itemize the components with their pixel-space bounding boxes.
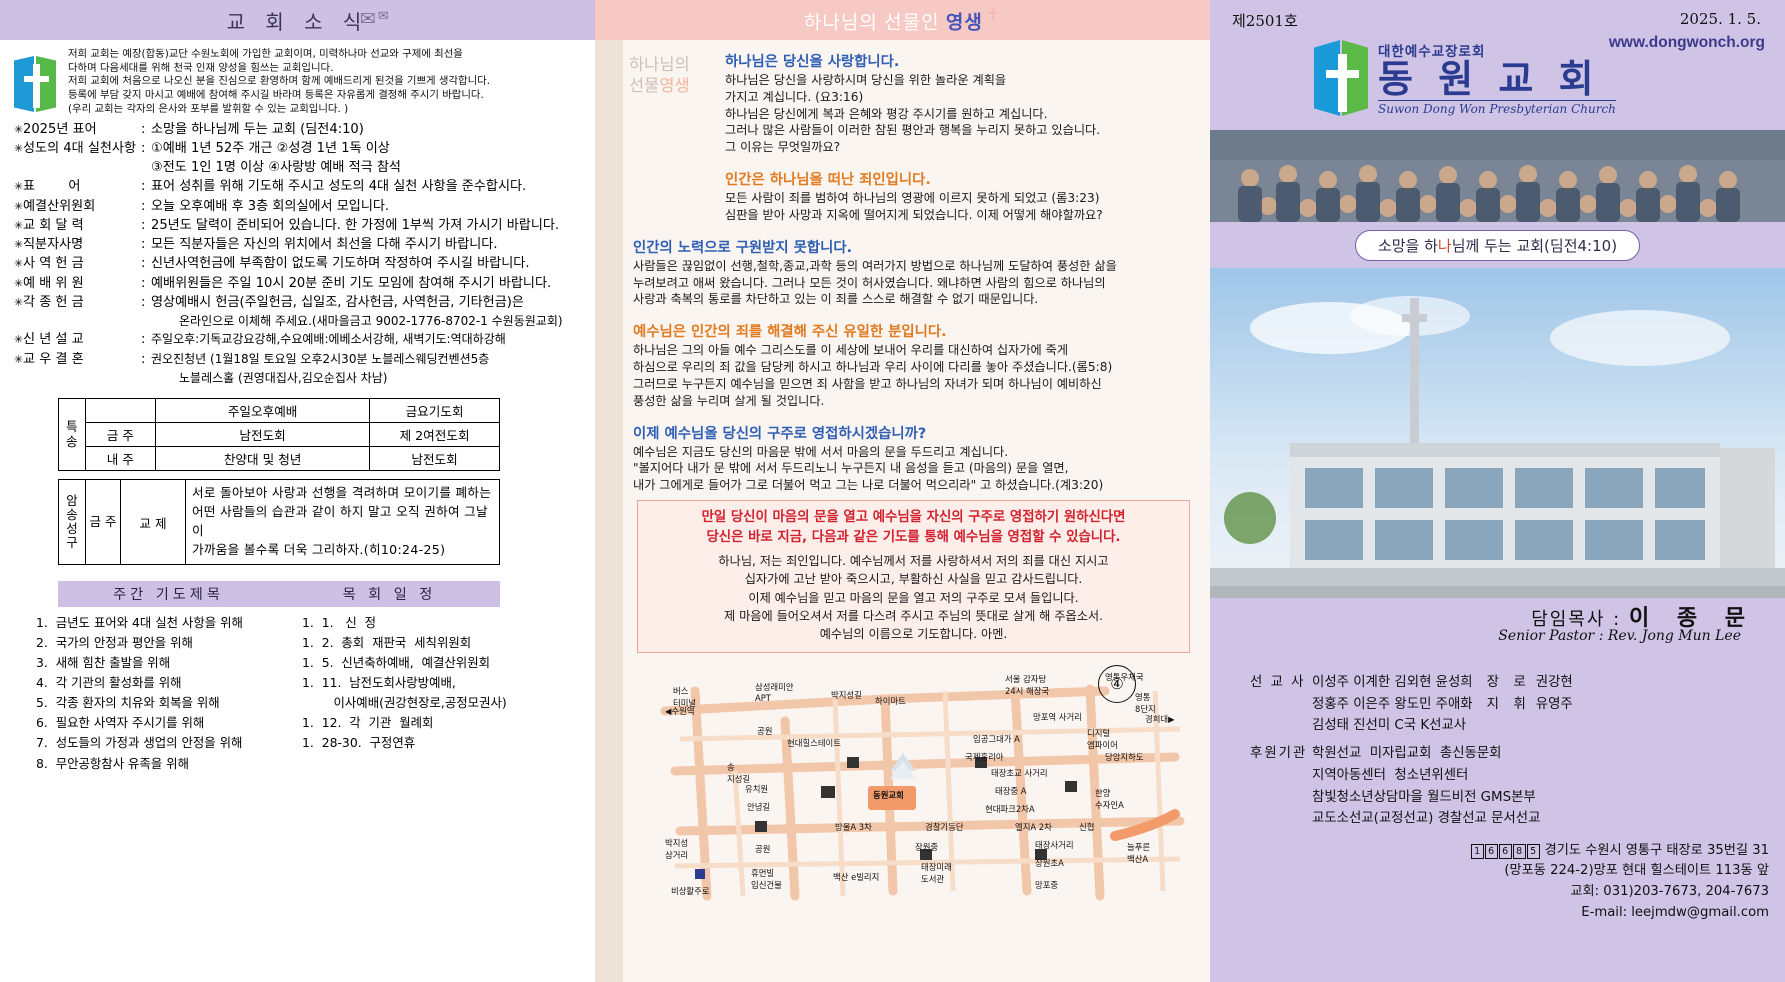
- slogan-bar: 소망을 하나님께 두는 교회(딤전4:10): [1210, 222, 1785, 268]
- slogan-suffix: 님께 두는 교회(딤전4:10): [1452, 237, 1617, 255]
- gospel-line: 내가 그에게로 들어가 그로 더불어 먹고 그는 나로 더불어 먹으리라" 고 …: [633, 478, 1103, 492]
- prayer-topics-header: 주간 기도제목: [58, 581, 279, 607]
- row-label-this-week: 금 주: [85, 423, 156, 447]
- list-item: 이사예배(권강현장로,공정모권사): [302, 693, 507, 713]
- cell-sunday-this-week: 남전도회: [156, 423, 370, 447]
- church-name: 동 원 교 회: [1378, 60, 1616, 100]
- map-label: 영통우체국: [1105, 671, 1144, 683]
- gospel-line: 풍성한 삶을 누리며 살게 될 것입니다.: [633, 394, 824, 408]
- announcement-item: ✳ 2025년 표어 : 소망을 하나님께 두는 교회 (딤전4:10): [14, 123, 585, 137]
- map-label: 비상활주로: [671, 885, 710, 897]
- map-label: 늘푸른백산A: [1127, 841, 1150, 865]
- announcement-item: ✳ 직분자사명 : 모든 직분자들은 자신의 위치에서 최선을 다해 주시기 바…: [14, 238, 585, 252]
- missionary-row: 선 교 사 이성주 이계한 김외현 윤성희 장 로 권강현: [1250, 672, 1573, 694]
- map-label: 현대파크2차A: [985, 803, 1035, 815]
- gospel-paragraph: 예수님은 지금도 당신의 마음문 밖에 서서 마음의 문을 두드리고 계십니다.…: [633, 444, 1198, 494]
- announcement-label: 신 년 설 교: [23, 333, 141, 347]
- missions-block: 선 교 사 이성주 이계한 김외현 윤성희 장 로 권강현 정홍주 이은주 왕도…: [1210, 672, 1573, 830]
- watermark-line: 선물영생: [629, 75, 725, 96]
- map-label: 서울 감자탕24시 해장국: [1005, 673, 1049, 697]
- bulletin-date: 2025. 1. 5.: [1680, 10, 1761, 28]
- map-label: 장원초A: [1035, 857, 1064, 869]
- table-cell-empty: [85, 399, 156, 423]
- memory-verse-side-label: 암 송 성 구: [59, 480, 86, 565]
- map-label: 망포중: [1035, 879, 1058, 891]
- map-label: 태장중 A: [995, 785, 1027, 797]
- colon: :: [141, 257, 151, 271]
- church-building-photo: [1210, 268, 1785, 598]
- watermark-eternal: 영생: [659, 76, 689, 95]
- gospel-section-2: 인간의 노력으로 구원받지 못합니다. 사람들은 끊임없이 선행,철학,종교,과…: [633, 236, 1198, 494]
- announcement-value: 영상예배시 헌금(주일헌금, 십일조, 감사헌금, 사역헌금, 기타헌금)은: [151, 296, 585, 310]
- map-label: 임공그대가 A: [973, 733, 1020, 745]
- list-item: 1. 금년도 표어와 4대 실천 사항을 위해: [36, 613, 286, 633]
- support-orgs: 지역아동센터 청소년위센터: [1312, 765, 1468, 787]
- announcement-value: 모든 직분자들은 자신의 위치에서 최선을 다해 주시기 바랍니다.: [151, 238, 585, 252]
- list-item: 1. 28-30. 구정연휴: [302, 733, 507, 753]
- gospel-line: 사랑과 축복의 통로를 차단하고 있는 이 죄를 스스로 해결할 수 없기 때문…: [633, 292, 1038, 306]
- gospel-line: 사람들은 끊임없이 선행,철학,종교,과학 등의 여러가지 방법으로 하나님께 …: [633, 259, 1117, 273]
- church-name-english: Suwon Dong Won Presbyterian Church: [1378, 100, 1616, 116]
- gospel-line: 그러나 많은 사람들이 이러한 참된 평안과 행복을 누리지 못하고 있습니다.: [725, 123, 1100, 137]
- gospel-line: 누려보려고 애써 왔습니다. 그러나 모든 것이 허사였습니다. 왜냐하면 사람…: [633, 276, 1106, 290]
- announcement-value: 권오진청년 (1월18일 토요일 오후2시30분 노블레스웨딩컨벤션5층: [151, 353, 585, 366]
- prayer-line: 십자가에 고난 받아 죽으시고, 부활하신 사실을 믿고 감사드립니다.: [745, 572, 1083, 586]
- announcement-item: ✳ 각 종 헌 금 : 영상예배시 헌금(주일헌금, 십일조, 감사헌금, 사역…: [14, 296, 585, 310]
- list-item: 1. 1. 신 정: [302, 613, 507, 633]
- colon: :: [141, 333, 151, 347]
- colon: :: [141, 200, 151, 214]
- support-row: 참빛청소년상담마을 월드비전 GMS본부: [1250, 787, 1573, 809]
- intro-line: 저희 교회는 예장(합동)교단 수원노회에 가입한 교회이며, 미력하나마 선교…: [68, 48, 490, 62]
- announcement-label: 직분자사명: [23, 238, 141, 252]
- gospel-title-highlight: 영생: [946, 12, 983, 33]
- memory-verse-line: 어떤 사람들의 습관과 같이 하지 말고 오직 권하여 그날이: [192, 503, 493, 541]
- spacer: [1250, 765, 1312, 787]
- gospel-line: 하나님은 그의 아들 예수 그리스도를 이 세상에 보내어 우리를 대신하여 십…: [633, 343, 1068, 357]
- map-label: ◀수원역: [665, 705, 695, 717]
- table-row: 암 송 성 구 금 주 교 제 서로 돌아보아 사랑과 선행을 격려하며 모이기…: [59, 480, 500, 565]
- colon: :: [141, 180, 151, 194]
- support-label: 후원기관: [1250, 743, 1312, 765]
- gospel-section-1: 하나님은 당신을 사랑합니다. 하나님은 당신을 사랑하시며 당신을 위한 놀라…: [725, 50, 1198, 224]
- bullet-icon: ✳: [14, 277, 23, 291]
- special-music-table: 특 송 주일오후예배 금요기도회 금 주 남전도회 제 2여전도회 내 주 찬양…: [58, 398, 500, 471]
- list-item: 4. 각 기관의 활성화를 위해: [36, 673, 286, 693]
- decision-heading-line: 만일 당신이 마음의 문을 열고 예수님을 자신의 구주로 영접하기 원하신다면: [702, 510, 1126, 525]
- announcement-value: ③전도 1인 1명 이상 ④사랑방 예배 적극 참석: [151, 161, 401, 175]
- missionary-row: 정홍주 이은주 왕도민 주애화 지 휘 유영주: [1250, 694, 1573, 716]
- announcement-value: ①예배 1년 52주 개근 ②성경 1년 1독 이상: [151, 142, 585, 156]
- gospel-line: "볼지어다 내가 문 밖에 서서 두드리노니 누구든지 내 음성을 듣고 (마음…: [633, 461, 1069, 475]
- announcement-value: 소망을 하나님께 두는 교회 (딤전4:10): [151, 123, 585, 137]
- gospel-paragraph: 사람들은 끊임없이 선행,철학,종교,과학 등의 여러가지 방법으로 하나님께 …: [633, 258, 1198, 308]
- address-street: 경기도 수원시 영통구 태장로 35번길 31: [1545, 843, 1769, 858]
- map-label: 하이마트: [875, 695, 906, 707]
- list-item: 1. 12. 각 기관 월례회: [302, 713, 507, 733]
- slogan-prefix: 소망을 하: [1378, 237, 1438, 255]
- bullet-icon: ✳: [14, 219, 23, 233]
- map-label: 삼성래미안APT: [755, 681, 794, 703]
- announcements-title: 교 회 소 식: [227, 6, 369, 35]
- map-label: 현대힐스테이트: [787, 737, 841, 749]
- map-label: 망포역 사거리: [1033, 711, 1082, 723]
- memory-verse-line: 서로 돌아보아 사랑과 선행을 격려하며 모이기를 폐하는: [192, 484, 493, 503]
- congregation-photo: [1210, 130, 1785, 222]
- prayer-line: 하나님, 저는 죄인입니다. 예수님께서 저를 사랑하셔서 저의 죄를 대신 지…: [718, 554, 1108, 568]
- missionary-names: 이성주 이계한 김외현 윤성희: [1312, 672, 1473, 694]
- building-photo-placeholder: [1210, 268, 1785, 598]
- list-item: 1. 5. 신년축하예배, 예결산위원회: [302, 653, 507, 673]
- gospel-paragraph: 하나님은 당신을 사랑하시며 당신을 위한 놀라운 계획을 가지고 계십니다. …: [725, 72, 1198, 156]
- announcement-value: 온라인으로 이체해 주세요.(새마을금고 9002-1776-8702-1 수원…: [179, 315, 563, 328]
- colon: :: [141, 277, 151, 291]
- missionary-names: 김성태 진선미 C국 K선교사: [1312, 715, 1466, 737]
- church-email[interactable]: E-mail: leejmdw@gmail.com: [1471, 903, 1769, 924]
- colon: :: [141, 353, 151, 367]
- watermark-gift: 선물: [629, 76, 659, 95]
- table-row: 내 주 찬양대 및 청년 남전도회: [59, 447, 500, 471]
- bullet-icon: ✳: [14, 296, 23, 310]
- prayer-schedule-headers: 주간 기도제목 목 회 일 정: [58, 581, 500, 607]
- intro-line: 저희 교회에 처음으로 나오신 분을 진심으로 환영하며 함께 예배드리게 된것…: [68, 75, 490, 89]
- memory-verse-week-label: 금 주: [86, 480, 121, 565]
- gospel-line: 하나님은 당신에게 복과 은혜와 평강 주시기를 원하고 계십니다.: [725, 107, 1048, 121]
- table-row: 금 주 남전도회 제 2여전도회: [59, 423, 500, 447]
- pastoral-schedule-header: 목 회 일 정: [279, 581, 500, 607]
- prayer-line: 제 마음에 들어오셔서 저를 다스려 주시고 주님의 뜻대로 살게 해 주옵소서…: [724, 609, 1103, 623]
- elder-label: 장 로: [1487, 672, 1528, 694]
- intro-line: 등록에 부담 갖지 마시고 예배에 참여해 주시길 바라며 등록은 자유롭게 결…: [68, 89, 490, 103]
- map-label: 방울A 3차: [835, 821, 872, 833]
- pastor-label: 담임목사 :: [1531, 609, 1621, 630]
- church-intro: 저희 교회는 예장(합동)교단 수원노회에 가입한 교회이며, 미력하나마 선교…: [0, 40, 595, 119]
- map-label: 한양수자인A: [1095, 787, 1124, 811]
- prayer-line: 예수님의 이름으로 기도합니다. 아멘.: [820, 627, 1008, 641]
- gospel-header-band: 하나님의 선물인 영생✝: [595, 0, 1210, 40]
- church-bulletin: 교 회 소 식 ✉✉ 저희 교회는 예장(합동)교단 수원노회에 가입한 교회이…: [0, 0, 1785, 982]
- issue-number: 제2501호: [1232, 10, 1298, 31]
- prayer-line: 이제 예수님을 믿고 마음의 문을 열고 저의 구주로 모셔 들입니다.: [748, 591, 1078, 605]
- gospel-paragraph: 하나님은 그의 아들 예수 그리스도를 이 세상에 보내어 우리를 대신하여 십…: [633, 342, 1198, 409]
- announcement-item: ✳ 교 우 결 혼 : 권오진청년 (1월18일 토요일 오후2시30분 노블레…: [14, 353, 585, 367]
- gospel-line: 예수님은 지금도 당신의 마음문 밖에 서서 마음의 문을 두드리고 계십니다.: [633, 445, 1008, 459]
- announcement-continuation: 노블레스홀 (권영대집사,김오순집사 차남): [179, 372, 585, 385]
- church-logo-text: 대한예수교장로회 동 원 교 회 Suwon Dong Won Presbyte…: [1378, 40, 1616, 116]
- list-item: 8. 무안공항참사 유족을 위해: [36, 754, 286, 774]
- list-item: 1. 2. 총회 재판국 세칙위원회: [302, 633, 507, 653]
- conductor-label: 지 휘: [1487, 694, 1528, 716]
- table-row: 특 송 주일오후예배 금요기도회: [59, 399, 500, 423]
- decision-heading: 만일 당신이 마음의 문을 열고 예수님을 자신의 구주로 영접하기 원하신다면…: [648, 508, 1179, 547]
- announcement-label: 교 회 달 력: [23, 219, 141, 233]
- gospel-title: 하나님의 선물인 영생✝: [804, 6, 1001, 34]
- right-column: 제2501호 2025. 1. 5. www.dongwonch.org 대한예…: [1210, 0, 1785, 982]
- gospel-heading: 예수님은 인간의 죄를 해결해 주신 유일한 분입니다.: [633, 320, 1198, 341]
- col-header-sunday-pm: 주일오후예배: [156, 399, 370, 423]
- bullet-icon: ✳: [14, 257, 23, 271]
- watermark-line: 하나님의: [629, 54, 725, 75]
- colon: :: [141, 238, 151, 252]
- announcement-continuation: 온라인으로 이체해 주세요.(새마을금고 9002-1776-8702-1 수원…: [179, 315, 585, 328]
- support-row: 후원기관 학원선교 미자립교회 총신동문회: [1250, 743, 1573, 765]
- gospel-heading: 하나님은 당신을 사랑합니다.: [725, 50, 1198, 71]
- intro-line: (우리 교회는 각자의 은사와 포부를 발휘할 수 있는 교회입니다. ): [68, 103, 490, 117]
- address-line-1: 16685경기도 수원시 영통구 태장로 35번길 31: [1471, 841, 1769, 862]
- map-label: 경찰기동단: [925, 821, 964, 833]
- conductor-name: 유영주: [1536, 694, 1573, 716]
- announcement-item: ✳ 예 배 위 원 : 예배위원들은 주일 10시 20분 준비 기도 모임에 …: [14, 277, 585, 291]
- spacer: [1250, 808, 1312, 830]
- cell-sunday-next-week: 찬양대 및 청년: [156, 447, 370, 471]
- bullet-icon: ✳: [14, 238, 23, 252]
- support-orgs: 학원선교 미자립교회 총신동문회: [1312, 743, 1502, 765]
- special-music-table-wrap: 특 송 주일오후예배 금요기도회 금 주 남전도회 제 2여전도회 내 주 찬양…: [58, 398, 500, 565]
- map-label: 태장미래도서관: [921, 861, 952, 885]
- spacer: [1250, 694, 1312, 716]
- announcement-label: 사 역 헌 금: [23, 257, 141, 271]
- colon: :: [141, 123, 151, 137]
- support-orgs: 교도소선교(교정선교) 경찰선교 문서선교: [1312, 808, 1540, 830]
- map-label: 공원: [755, 843, 770, 855]
- cell-friday-next-week: 남전도회: [370, 447, 500, 471]
- support-row: 지역아동센터 청소년위센터: [1250, 765, 1573, 787]
- prayer-topics-list: 1. 금년도 표어와 4대 실천 사항을 위해 2. 국가의 안정과 평안을 위…: [36, 613, 286, 774]
- pastoral-schedule-list: 1. 1. 신 정 1. 2. 총회 재판국 세칙위원회 1. 5. 신년축하예…: [286, 613, 507, 774]
- middle-column: 하나님의 선물인 영생✝ 하나님의 선물영생 하나님은 당신을 사랑합니다. 하…: [595, 0, 1210, 982]
- cell-friday-this-week: 제 2여전도회: [370, 423, 500, 447]
- zipcode-badge: 16685: [1471, 841, 1541, 862]
- announcement-item: ✳ 예결산위원회 : 오늘 오후예배 후 3층 회의실에서 모입니다.: [14, 200, 585, 214]
- left-header-band: 교 회 소 식 ✉✉: [0, 0, 595, 40]
- announcement-item: ✳ 성도의 4대 실천사항 : ①예배 1년 52주 개근 ②성경 1년 1독 …: [14, 142, 585, 156]
- colon: :: [141, 219, 151, 233]
- missionary-label: 선 교 사: [1250, 672, 1312, 694]
- list-item: 1. 11. 남전도회사랑방예배,: [302, 673, 507, 693]
- announcement-label: 교 우 결 혼: [23, 353, 141, 367]
- bullet-icon: ✳: [14, 123, 23, 137]
- intro-line: 다하며 다음세대를 위해 천국 인재 양성을 힘쓰는 교회입니다.: [68, 62, 490, 76]
- gospel-line: 하나님은 당신을 사랑하시며 당신을 위한 놀라운 계획을: [725, 73, 1006, 87]
- prayer-schedule-body: 1. 금년도 표어와 4대 실천 사항을 위해 2. 국가의 안정과 평안을 위…: [36, 613, 506, 774]
- gospel-line: 가지고 계십니다. (요3:16): [725, 90, 863, 104]
- colon: :: [141, 142, 151, 156]
- map-label: 안녕길: [747, 801, 770, 813]
- map-label: 당암지하도: [1105, 751, 1144, 763]
- announcement-label: 예 배 위 원: [23, 277, 141, 291]
- special-music-side-label: 특 송: [59, 399, 86, 471]
- announcement-item: ✳ 교 회 달 력 : 25년도 달력이 준비되어 있습니다. 한 가정에 1부…: [14, 219, 585, 233]
- list-item: 6. 필요한 사역자 주시기를 위해: [36, 713, 286, 733]
- announcement-value: 노블레스홀 (권영대집사,김오순집사 차남): [179, 372, 388, 385]
- announcement-list: ✳ 2025년 표어 : 소망을 하나님께 두는 교회 (딤전4:10) ✳ 성…: [0, 119, 595, 385]
- announcement-label: 성도의 4대 실천사항: [23, 142, 141, 156]
- announcement-value: 오늘 오후예배 후 3층 회의실에서 모입니다.: [151, 200, 585, 214]
- list-item: 7. 성도들의 가정과 생업의 안정을 위해: [36, 733, 286, 753]
- map-label: 태장초교 사거리: [991, 767, 1048, 779]
- announcement-label: 표 어: [23, 180, 141, 194]
- gospel-line: 그 이유는 무엇일까요?: [725, 140, 840, 154]
- intro-text: 저희 교회는 예장(합동)교단 수원노회에 가입한 교회이며, 미력하나마 선교…: [68, 48, 490, 117]
- map-label: 유치원: [745, 783, 768, 795]
- map-label: 태장사거리: [1035, 839, 1074, 851]
- slogan-highlight: 나: [1438, 237, 1452, 255]
- website-link[interactable]: www.dongwonch.org: [1609, 34, 1765, 52]
- colon: :: [141, 296, 151, 310]
- announcement-item: ✳ 신 년 설 교 : 주일오후:기독교강요강해,수요예배:에베소서강해, 새벽…: [14, 333, 585, 347]
- announcement-value: 예배위원들은 주일 10시 20분 준비 기도 모임에 참여해 주시기 바랍니다…: [151, 277, 585, 291]
- gospel-heading: 이제 예수님을 당신의 구주로 영접하시겠습니까?: [633, 422, 1198, 443]
- announcement-label: 각 종 헌 금: [23, 296, 141, 310]
- church-phone: 교회: 031)203-7673, 204-7673: [1471, 882, 1769, 903]
- door-cross-icon: [1314, 40, 1370, 116]
- pastor-band: 담임목사 : 이 종 문 Senior Pastor : Rev. Jong M…: [1210, 598, 1785, 656]
- support-row: 교도소선교(교정선교) 경찰선교 문서선교: [1250, 808, 1573, 830]
- gospel-line: 모든 사람이 죄를 범하여 하나님의 영광에 이르지 못하게 되었고 (롬3:2…: [725, 191, 1099, 205]
- list-item: 3. 새해 힘찬 출발을 위해: [36, 653, 286, 673]
- masthead: 제2501호 2025. 1. 5. www.dongwonch.org 대한예…: [1210, 0, 1785, 130]
- list-item: 5. 각종 환자의 치유와 회복을 위해: [36, 693, 286, 713]
- map-label: 영통8단지: [1135, 691, 1156, 715]
- map-label: 박지성삼거리: [665, 837, 688, 861]
- announcement-value: 신년사역헌금에 부족함이 없도록 기도하며 작정하여 주시길 바랍니다.: [151, 257, 585, 271]
- missionary-names: 정홍주 이은주 왕도민 주애화: [1312, 694, 1473, 716]
- decision-heading-line: 당신은 바로 지금, 다음과 같은 기도를 통해 예수님을 영접할 수 있습니다…: [706, 530, 1120, 545]
- bullet-icon: ✳: [14, 180, 23, 194]
- gospel-body: 하나님의 선물영생 하나님은 당신을 사랑합니다. 하나님은 당신을 사랑하시며…: [595, 40, 1210, 982]
- gospel-title-prefix: 하나님의 선물인: [804, 12, 946, 33]
- gospel-line: 그러므로 누구든지 예수님을 믿으면 죄 사함을 받고 하나님의 자녀가 되며 …: [633, 377, 1102, 391]
- location-map: ④ 동원교회 버스터미널 삼성래미안APT 박지성길 하이마트 서울 감자탕24…: [635, 661, 1194, 901]
- support-orgs: 참빛청소년상담마을 월드비전 GMS본부: [1312, 787, 1536, 809]
- photo-placeholder: [1210, 130, 1785, 222]
- pastor-name-english: Senior Pastor : Rev. Jong Mun Lee: [1498, 628, 1741, 644]
- announcement-item: ✳ 사 역 헌 금 : 신년사역헌금에 부족함이 없도록 기도하며 작정하여 주…: [14, 257, 585, 271]
- map-label: 국제홈리아: [965, 751, 1004, 763]
- announcement-item: ✳ 표 어 : 표어 성취를 위해 기도해 주시고 성도의 4대 실천 사항을 …: [14, 180, 585, 194]
- list-item: 2. 국가의 안정과 평안을 위해: [36, 633, 286, 653]
- year-slogan: 소망을 하나님께 두는 교회(딤전4:10): [1355, 230, 1640, 261]
- missions-section: 선 교 사 이성주 이계한 김외현 윤성희 장 로 권강현 정홍주 이은주 왕도…: [1210, 656, 1785, 830]
- map-label: 박지성길: [831, 689, 862, 701]
- memory-verse-topic: 교 제: [121, 480, 186, 565]
- spacer: [1250, 715, 1312, 737]
- memory-verse-table: 암 송 성 구 금 주 교 제 서로 돌아보아 사랑과 선행을 격려하며 모이기…: [58, 479, 500, 565]
- announcement-value: 표어 성취를 위해 기도해 주시고 성도의 4대 실천 사항을 준수합시다.: [151, 180, 585, 194]
- map-label: 백산 e빌리지: [833, 871, 879, 883]
- map-church-marker: 동원교회: [873, 789, 904, 801]
- bullet-icon: ✳: [14, 142, 23, 156]
- memory-verse-text: 서로 돌아보아 사랑과 선행을 격려하며 모이기를 폐하는 어떤 사람들의 습관…: [186, 480, 500, 565]
- map-label: 엘지A 2차: [1015, 821, 1052, 833]
- map-label: 디지털엠파이어: [1087, 727, 1118, 751]
- gospel-heading: 인간은 하나님을 떠난 죄인입니다.: [725, 168, 1198, 189]
- map-label: 경희대▶: [1145, 713, 1175, 725]
- left-column: 교 회 소 식 ✉✉ 저희 교회는 예장(합동)교단 수원노회에 가입한 교회이…: [0, 0, 595, 982]
- map-label: 공원: [757, 725, 772, 737]
- announcement-label: 예결산위원회: [23, 200, 141, 214]
- memory-verse-line: 가까움을 볼수록 더욱 그리하자.(히10:24-25): [192, 541, 493, 560]
- map-label: 신협: [1079, 821, 1094, 833]
- announcement-continuation: ③전도 1인 1명 이상 ④사랑방 예배 적극 참석: [151, 161, 585, 175]
- announcement-value: 주일오후:기독교강요강해,수요예배:에베소서강해, 새벽기도:역대하강해: [151, 333, 585, 346]
- cross-icon: ✝: [986, 6, 1001, 25]
- gospel-paragraph: 모든 사람이 죄를 범하여 하나님의 영광에 이르지 못하게 되었고 (롬3:2…: [725, 190, 1198, 224]
- gospel-heading: 인간의 노력으로 구원받지 못합니다.: [633, 236, 1198, 257]
- spacer: [1250, 787, 1312, 809]
- gospel-watermark: 하나님의 선물영생: [629, 54, 725, 97]
- row-label-next-week: 내 주: [85, 447, 156, 471]
- bullet-icon: ✳: [14, 333, 23, 347]
- gospel-line: 심판을 받아 사망과 지옥에 떨어지게 되었습니다. 이제 어떻게 해야할까요?: [725, 208, 1103, 222]
- decision-prayer-text: 하나님, 저는 죄인입니다. 예수님께서 저를 사랑하셔서 저의 죄를 대신 지…: [648, 552, 1179, 643]
- church-address-block: 16685경기도 수원시 영통구 태장로 35번길 31 (망포동 224-2)…: [1471, 841, 1769, 924]
- elder-name: 권강현: [1536, 672, 1573, 694]
- decision-prayer-box: 만일 당신이 마음의 문을 열고 예수님을 자신의 구주로 영접하기 원하신다면…: [637, 500, 1190, 653]
- envelope-icon: ✉✉: [360, 8, 391, 31]
- church-logo: 대한예수교장로회 동 원 교 회 Suwon Dong Won Presbyte…: [1314, 40, 1616, 116]
- missionary-row: 김성태 진선미 C국 K선교사: [1250, 715, 1573, 737]
- map-label: 송지성길: [727, 761, 750, 785]
- bullet-icon: ✳: [14, 353, 23, 367]
- gospel-line: 하심으로 우리의 죄 값을 담당케 하시고 하나님과 우리 사이에 다리를 놓아…: [633, 360, 1112, 374]
- bullet-icon: ✳: [14, 200, 23, 214]
- door-cross-icon: [14, 52, 58, 114]
- announcement-value: 25년도 달력이 준비되어 있습니다. 한 가정에 1부씩 가져 가시기 바랍니…: [151, 219, 585, 233]
- address-line-2: (망포동 224-2)망포 현대 힐스테이트 113동 앞: [1471, 861, 1769, 882]
- col-header-friday-prayer: 금요기도회: [370, 399, 500, 423]
- map-label: 장원중: [915, 841, 938, 853]
- map-label: 휴먼빌입신건물: [751, 867, 782, 891]
- gutter: [595, 40, 623, 982]
- announcement-label: 2025년 표어: [23, 123, 141, 137]
- gospel-main: 하나님의 선물영생 하나님은 당신을 사랑합니다. 하나님은 당신을 사랑하시며…: [623, 40, 1210, 982]
